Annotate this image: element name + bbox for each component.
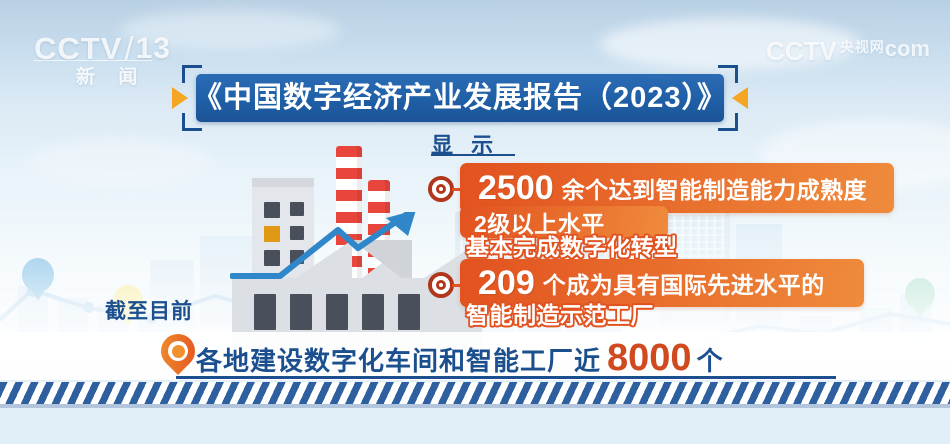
stat-text-1: 余个达到智能制造能力成熟度 (562, 171, 868, 205)
cctv-logo-subtitle: 新 闻 (76, 62, 146, 89)
infographic-slide: CCTV / 13 新 闻 CCTV 央视网 com 《中国数字经济产业发展报告… (0, 0, 950, 444)
watermark-main-text: CCTV (766, 36, 837, 67)
footer-base-area (0, 408, 950, 444)
footer-summary: 各地建设数字化车间和智能工厂近 8000 个 (196, 339, 723, 378)
diagonal-stripe-band (0, 382, 950, 404)
watermark-com-text: com (885, 36, 930, 62)
report-title-banner: 《中国数字经济产业发展报告（2023）》 (196, 74, 724, 122)
stat-number-1: 2500 (478, 171, 554, 205)
target-center-dot (439, 283, 443, 287)
footer-underline (176, 376, 836, 379)
footer-unit: 个 (697, 341, 723, 378)
footer-number: 8000 (607, 339, 692, 377)
cctv-com-watermark: CCTV 央视网 com (766, 36, 930, 67)
target-center-dot (439, 187, 443, 191)
factory-illustration (180, 130, 480, 350)
triangle-right-arrow-icon (172, 87, 188, 109)
as-of-label: 截至目前 (105, 295, 193, 325)
watermark-chinese-text: 央视网 (840, 37, 885, 57)
stat-number-2: 209 (478, 266, 535, 300)
stat-text-2: 个成为具有国际先进水平的 (543, 266, 825, 300)
bullet-target-icon-2 (428, 272, 454, 298)
shows-label-underline (431, 154, 515, 156)
bullet-target-icon-1 (428, 176, 454, 202)
stat-overflow-text-2: 智能制造示范工厂 (466, 296, 654, 330)
triangle-left-arrow-icon (732, 87, 748, 109)
stat-overflow-text-1: 基本完成数字化转型 (466, 228, 678, 262)
title-bar: 《中国数字经济产业发展报告（2023）》 (196, 74, 724, 122)
footer-lead-text: 各地建设数字化车间和智能工厂近 (196, 341, 601, 378)
pin-center-dot (172, 345, 185, 358)
factory-tower-roof (252, 178, 314, 187)
page-title: 《中国数字经济产业发展报告（2023）》 (193, 84, 727, 113)
cctv-logo-rule (34, 60, 152, 61)
